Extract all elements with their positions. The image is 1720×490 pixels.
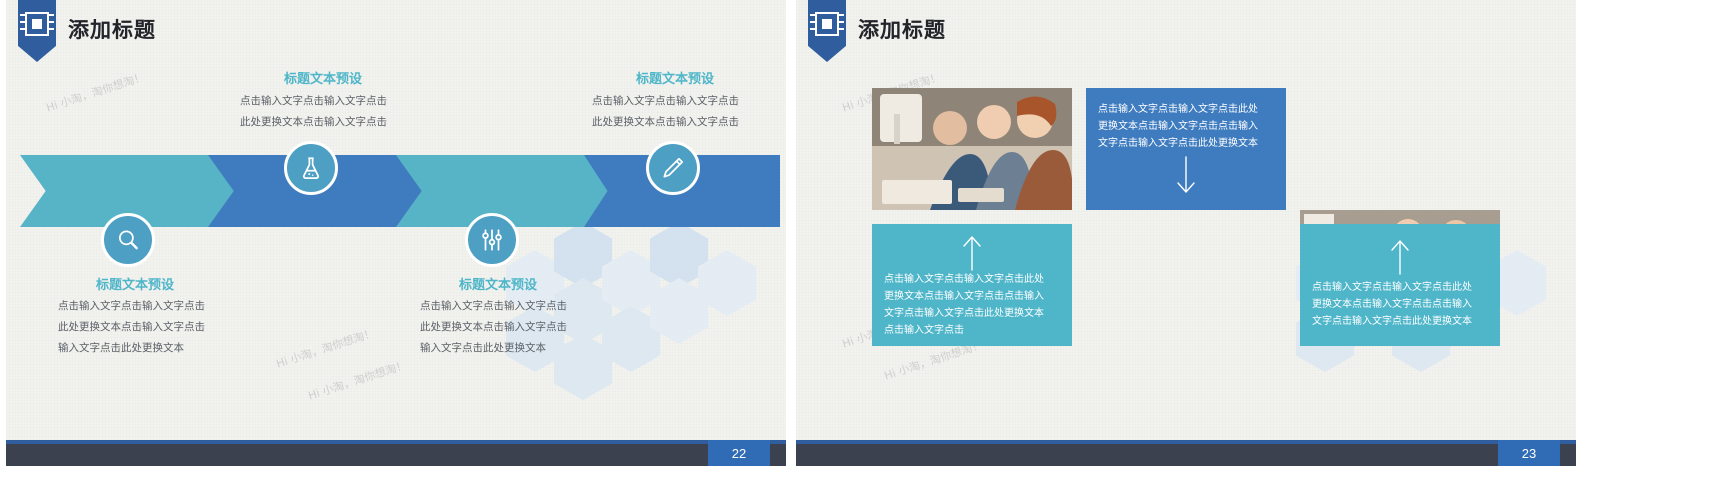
arrow-up-icon-wrap [884,237,1060,271]
magnifier-icon-badge [101,213,155,267]
text-line: 点击输入文字点击 [884,322,1060,339]
footer-bar-left [6,440,786,466]
slide-22: Hi 小淘，淘你想淘！ Hi 小淘，淘你想淘！ Hi 小淘，淘你想淘！ 添加标题 [6,0,786,440]
step-3-line-3: 输入文字点击此处更换文本 [420,340,546,357]
text-block-bottom-left: 点击输入文字点击输入文字点击此处 更换文本点击输入文字点击点击输入 文字点击输入… [872,224,1072,346]
step-1-line-3: 输入文字点击此处更换文本 [58,340,184,357]
step-4-line-2: 此处更换文本点击输入文字点击 [592,114,739,131]
team-photo-top-left [872,88,1072,210]
watermark-text: Hi 小淘，淘你想淘！ [306,357,409,404]
sliders-icon [479,227,505,253]
step-2-title: 标题文本预设 [284,68,362,87]
text-line: 文字点击输入文字点击此处更换文本 [884,305,1060,322]
pencil-icon-badge [646,141,700,195]
footer-stripe [796,440,1576,444]
text-line: 更换文本点击输入文字点击点击输入 [1312,296,1488,313]
text-block-top-middle: 点击输入文字点击输入文字点击此处 更换文本点击输入文字点击点击输入 文字点击输入… [1086,88,1286,210]
text-line: 文字点击输入文字点击此处更换文本 [1098,135,1274,152]
step-1-line-1: 点击输入文字点击输入文字点击 [58,298,205,315]
watermark-text: Hi 小淘，淘你想淘！ [274,325,377,372]
text-line: 点击输入文字点击输入文字点击此处 [884,271,1060,288]
step-4-title: 标题文本预设 [636,68,714,87]
text-line: 点击输入文字点击输入文字点击此处 [1312,279,1488,296]
slide-23: Hi 小淘，淘你想淘！ Hi 小淘，淘你想淘！ Hi 小淘，淘你想淘！ 添加标题 [796,0,1576,440]
text-line: 文字点击输入文字点击此处更换文本 [1312,313,1488,330]
page-title: 添加标题 [858,14,946,44]
flask-icon [298,155,324,181]
page-number-badge: 22 [708,440,770,466]
text-line: 更换文本点击输入文字点击点击输入 [1098,118,1274,135]
slide-23-container: Hi 小淘，淘你想淘！ Hi 小淘，淘你想淘！ Hi 小淘，淘你想淘！ 添加标题 [796,0,1576,490]
ribbon-badge-icon [18,0,56,62]
watermark-text: Hi 小淘，淘你想淘！ [44,69,147,116]
step-4-line-1: 点击输入文字点击输入文字点击 [592,93,739,110]
ribbon-badge-icon [808,0,846,62]
text-line: 点击输入文字点击输入文字点击此处 [1098,101,1274,118]
photo-text-grid: 点击输入文字点击输入文字点击此处 更换文本点击输入文字点击点击输入 文字点击输入… [872,88,1072,440]
sliders-icon-badge [465,213,519,267]
pencil-icon [660,155,686,181]
step-2-line-1: 点击输入文字点击输入文字点击 [240,93,387,110]
footer-bar-right [796,440,1576,466]
step-2-line-2: 此处更换文本点击输入文字点击 [240,114,387,131]
chip-pins-icon [18,10,56,38]
step-3-line-1: 点击输入文字点击输入文字点击 [420,298,567,315]
step-3-title: 标题文本预设 [459,274,537,293]
arrow-down-icon [1171,153,1201,199]
text-line: 更换文本点击输入文字点击点击输入 [884,288,1060,305]
step-1-title: 标题文本预设 [96,274,174,293]
photo-illustration [872,88,1072,210]
arrow-down-icon-wrap [1098,152,1274,200]
magnifier-icon [115,227,141,253]
text-block-bottom-right: 点击输入文字点击输入文字点击此处 更换文本点击输入文字点击点击输入 文字点击输入… [1300,224,1500,346]
page-title: 添加标题 [68,14,156,44]
step-1-line-2: 此处更换文本点击输入文字点击 [58,319,205,336]
slide-deck: Hi 小淘，淘你想淘！ Hi 小淘，淘你想淘！ Hi 小淘，淘你想淘！ 添加标题 [0,0,1720,490]
flask-icon-badge [284,141,338,195]
arrow-up-icon-wrap [1312,237,1488,279]
step-3-line-2: 此处更换文本点击输入文字点击 [420,319,567,336]
footer-stripe [6,440,786,444]
page-number-badge: 23 [1498,440,1560,466]
chip-pins-icon [808,10,846,38]
arrow-up-icon [1385,235,1415,281]
slide-22-container: Hi 小淘，淘你想淘！ Hi 小淘，淘你想淘！ Hi 小淘，淘你想淘！ 添加标题 [6,0,786,490]
